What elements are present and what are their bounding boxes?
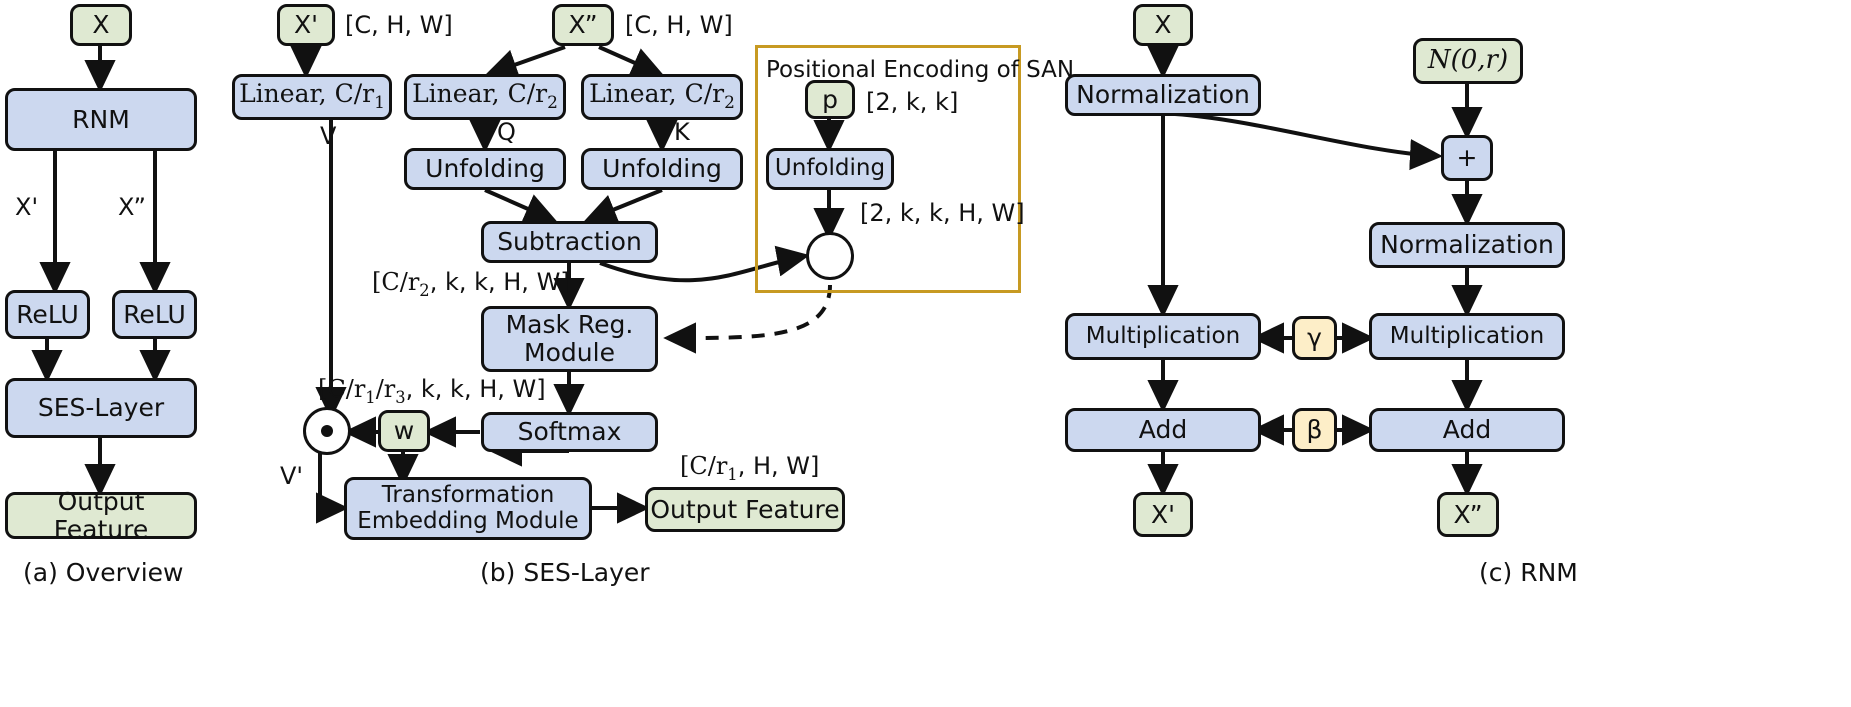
- panel-b-linear-v-label: Linear, C/r1: [239, 80, 385, 113]
- panel-c-multiplication-right-block[interactable]: Multiplication: [1369, 313, 1565, 360]
- transform-line-1: Transformation: [382, 483, 555, 509]
- mask-reg-line-1: Mask Reg.: [506, 311, 634, 339]
- mask-reg-line-2: Module: [524, 339, 615, 367]
- unfolding-p-label: Unfolding: [775, 156, 885, 182]
- panel-a-caption: (a) Overview: [23, 558, 183, 587]
- panel-b-subtraction-shape: [C/r2, k, k, H, W]: [372, 268, 570, 300]
- panel-b-p-shape: [2, k, k]: [866, 88, 958, 116]
- panel-b-linear-k-label: Linear, C/r2: [589, 80, 735, 113]
- panel-c-normalization-right-block[interactable]: Normalization: [1369, 222, 1565, 268]
- panel-c-noise-label: N(0,r): [1428, 46, 1508, 75]
- panel-c-output-left-node[interactable]: X': [1133, 492, 1193, 537]
- panel-c-beta-param[interactable]: β: [1292, 408, 1337, 452]
- panel-a-ses-layer-block[interactable]: SES-Layer: [5, 378, 197, 438]
- panel-c-add-right-block[interactable]: Add: [1369, 408, 1565, 452]
- panel-c-multiplication-left-block[interactable]: Multiplication: [1065, 313, 1261, 360]
- panel-a-rnm-block[interactable]: RNM: [5, 88, 197, 151]
- panel-c-output-right-node[interactable]: X”: [1437, 492, 1499, 537]
- panel-b-linear-v-block[interactable]: Linear, C/r1: [232, 74, 392, 120]
- panel-b-positional-p-node[interactable]: p: [805, 80, 855, 119]
- panel-c-gamma-param[interactable]: γ: [1292, 316, 1337, 360]
- panel-b-dot-product-glyph: [321, 425, 333, 437]
- panel-b-softmax-block[interactable]: Softmax: [481, 412, 658, 452]
- figure-canvas: X RNM X' X” ReLU ReLU SES-Layer Output F…: [0, 0, 1851, 707]
- panel-c-plus-operator-block[interactable]: +: [1441, 135, 1493, 181]
- panel-b-unfolding-p-block[interactable]: Unfolding: [766, 148, 894, 190]
- panel-a-edge-label-x-double-prime: X”: [118, 193, 146, 221]
- transform-line-2: Embedding Module: [357, 509, 578, 535]
- panel-a-input-node[interactable]: X: [70, 4, 132, 46]
- positional-encoding-group-title: Positional Encoding of SAN: [766, 57, 1074, 83]
- panel-b-edge-label-q: Q: [497, 118, 516, 146]
- panel-c-caption: (c) RNM: [1479, 558, 1578, 587]
- panel-b-x-prime-shape: [C, H, W]: [345, 11, 453, 39]
- panel-b-unfolding-q-block[interactable]: Unfolding: [404, 148, 566, 190]
- panel-a-output-node[interactable]: Output Feature: [5, 492, 197, 539]
- panel-a-relu-right[interactable]: ReLU: [112, 290, 197, 339]
- panel-b-subtraction-block[interactable]: Subtraction: [481, 221, 658, 263]
- panel-b-linear-q-block[interactable]: Linear, C/r2: [404, 74, 566, 120]
- panel-b-add-operator-circle[interactable]: [806, 232, 854, 280]
- panel-b-edge-label-k: K: [674, 118, 690, 146]
- panel-b-edge-label-v-prime: V': [280, 462, 303, 490]
- panel-b-mask-output-shape: [C/r1/r3, k, k, H, W]: [318, 375, 546, 407]
- panel-b-output-shape: [C/r1, H, W]: [680, 452, 819, 484]
- panel-b-linear-k-block[interactable]: Linear, C/r2: [581, 74, 743, 120]
- panel-b-output-node[interactable]: Output Feature: [645, 487, 845, 532]
- panel-b-x-double-prime-shape: [C, H, W]: [625, 11, 733, 39]
- panel-c-input-node[interactable]: X: [1133, 4, 1193, 46]
- panel-b-weight-node[interactable]: w: [378, 410, 430, 452]
- panel-c-noise-node[interactable]: N(0,r): [1413, 38, 1523, 84]
- mult-left-label: Multiplication: [1086, 324, 1240, 350]
- panel-b-linear-q-label: Linear, C/r2: [412, 80, 558, 113]
- panel-c-normalization-left-block[interactable]: Normalization: [1065, 74, 1261, 116]
- panel-b-x-double-prime-node[interactable]: X”: [552, 4, 614, 46]
- panel-b-p-unfold-shape: [2, k, k, H, W]: [860, 199, 1025, 227]
- panel-b-unfolding-k-block[interactable]: Unfolding: [581, 148, 743, 190]
- panel-b-edge-label-v: V: [320, 122, 336, 150]
- panel-b-x-prime-node[interactable]: X': [277, 4, 335, 46]
- mult-right-label: Multiplication: [1390, 324, 1544, 350]
- panel-a-relu-left[interactable]: ReLU: [5, 290, 90, 339]
- panel-b-mask-reg-module-block[interactable]: Mask Reg. Module: [481, 306, 658, 372]
- panel-b-caption: (b) SES-Layer: [480, 558, 650, 587]
- panel-c-add-left-block[interactable]: Add: [1065, 408, 1261, 452]
- panel-a-edge-label-x-prime: X': [15, 193, 38, 221]
- panel-b-transformation-embedding-module-block[interactable]: Transformation Embedding Module: [344, 477, 592, 540]
